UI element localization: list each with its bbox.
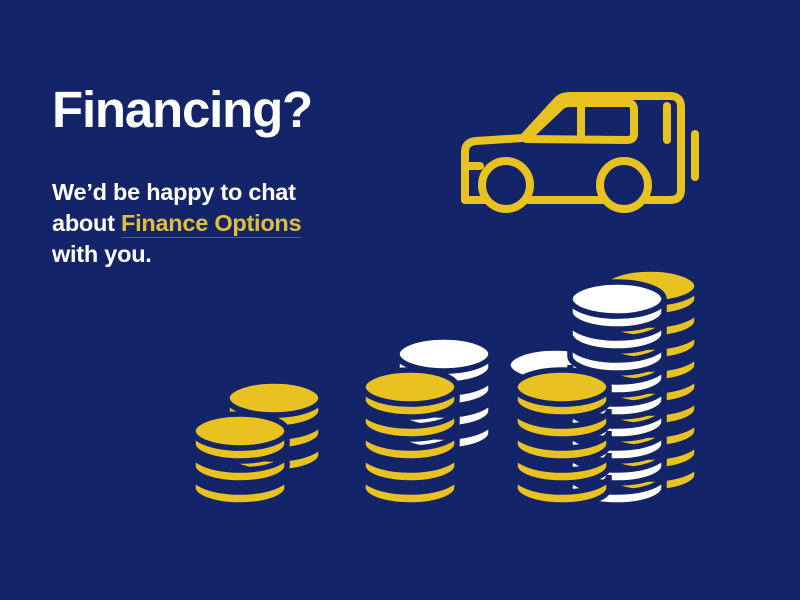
subcopy: We’d be happy to chat about Finance Opti… [52, 137, 382, 271]
car-rear-wheel [600, 161, 648, 209]
subcopy-line-1: We’d be happy to chat [52, 179, 296, 205]
suv-car-icon [448, 82, 713, 217]
subcopy-line-2-prefix: about [52, 210, 121, 236]
coin-stacks-svg [185, 265, 725, 515]
car-front-wheel [482, 161, 530, 209]
coin-stack-group-3 [508, 269, 697, 505]
subcopy-line-3: with you. [52, 241, 152, 267]
coin-stacks-icon [185, 265, 725, 515]
coin-stack-group-2 [363, 337, 491, 505]
coin-stack-group-1 [193, 381, 321, 505]
page-title: Financing? [52, 83, 452, 137]
text-block: Financing? We’d be happy to chat about F… [52, 83, 452, 270]
finance-options-link[interactable]: Finance Options [121, 210, 301, 238]
suv-car-svg [448, 82, 713, 217]
financing-slide: Financing? We’d be happy to chat about F… [0, 0, 800, 600]
